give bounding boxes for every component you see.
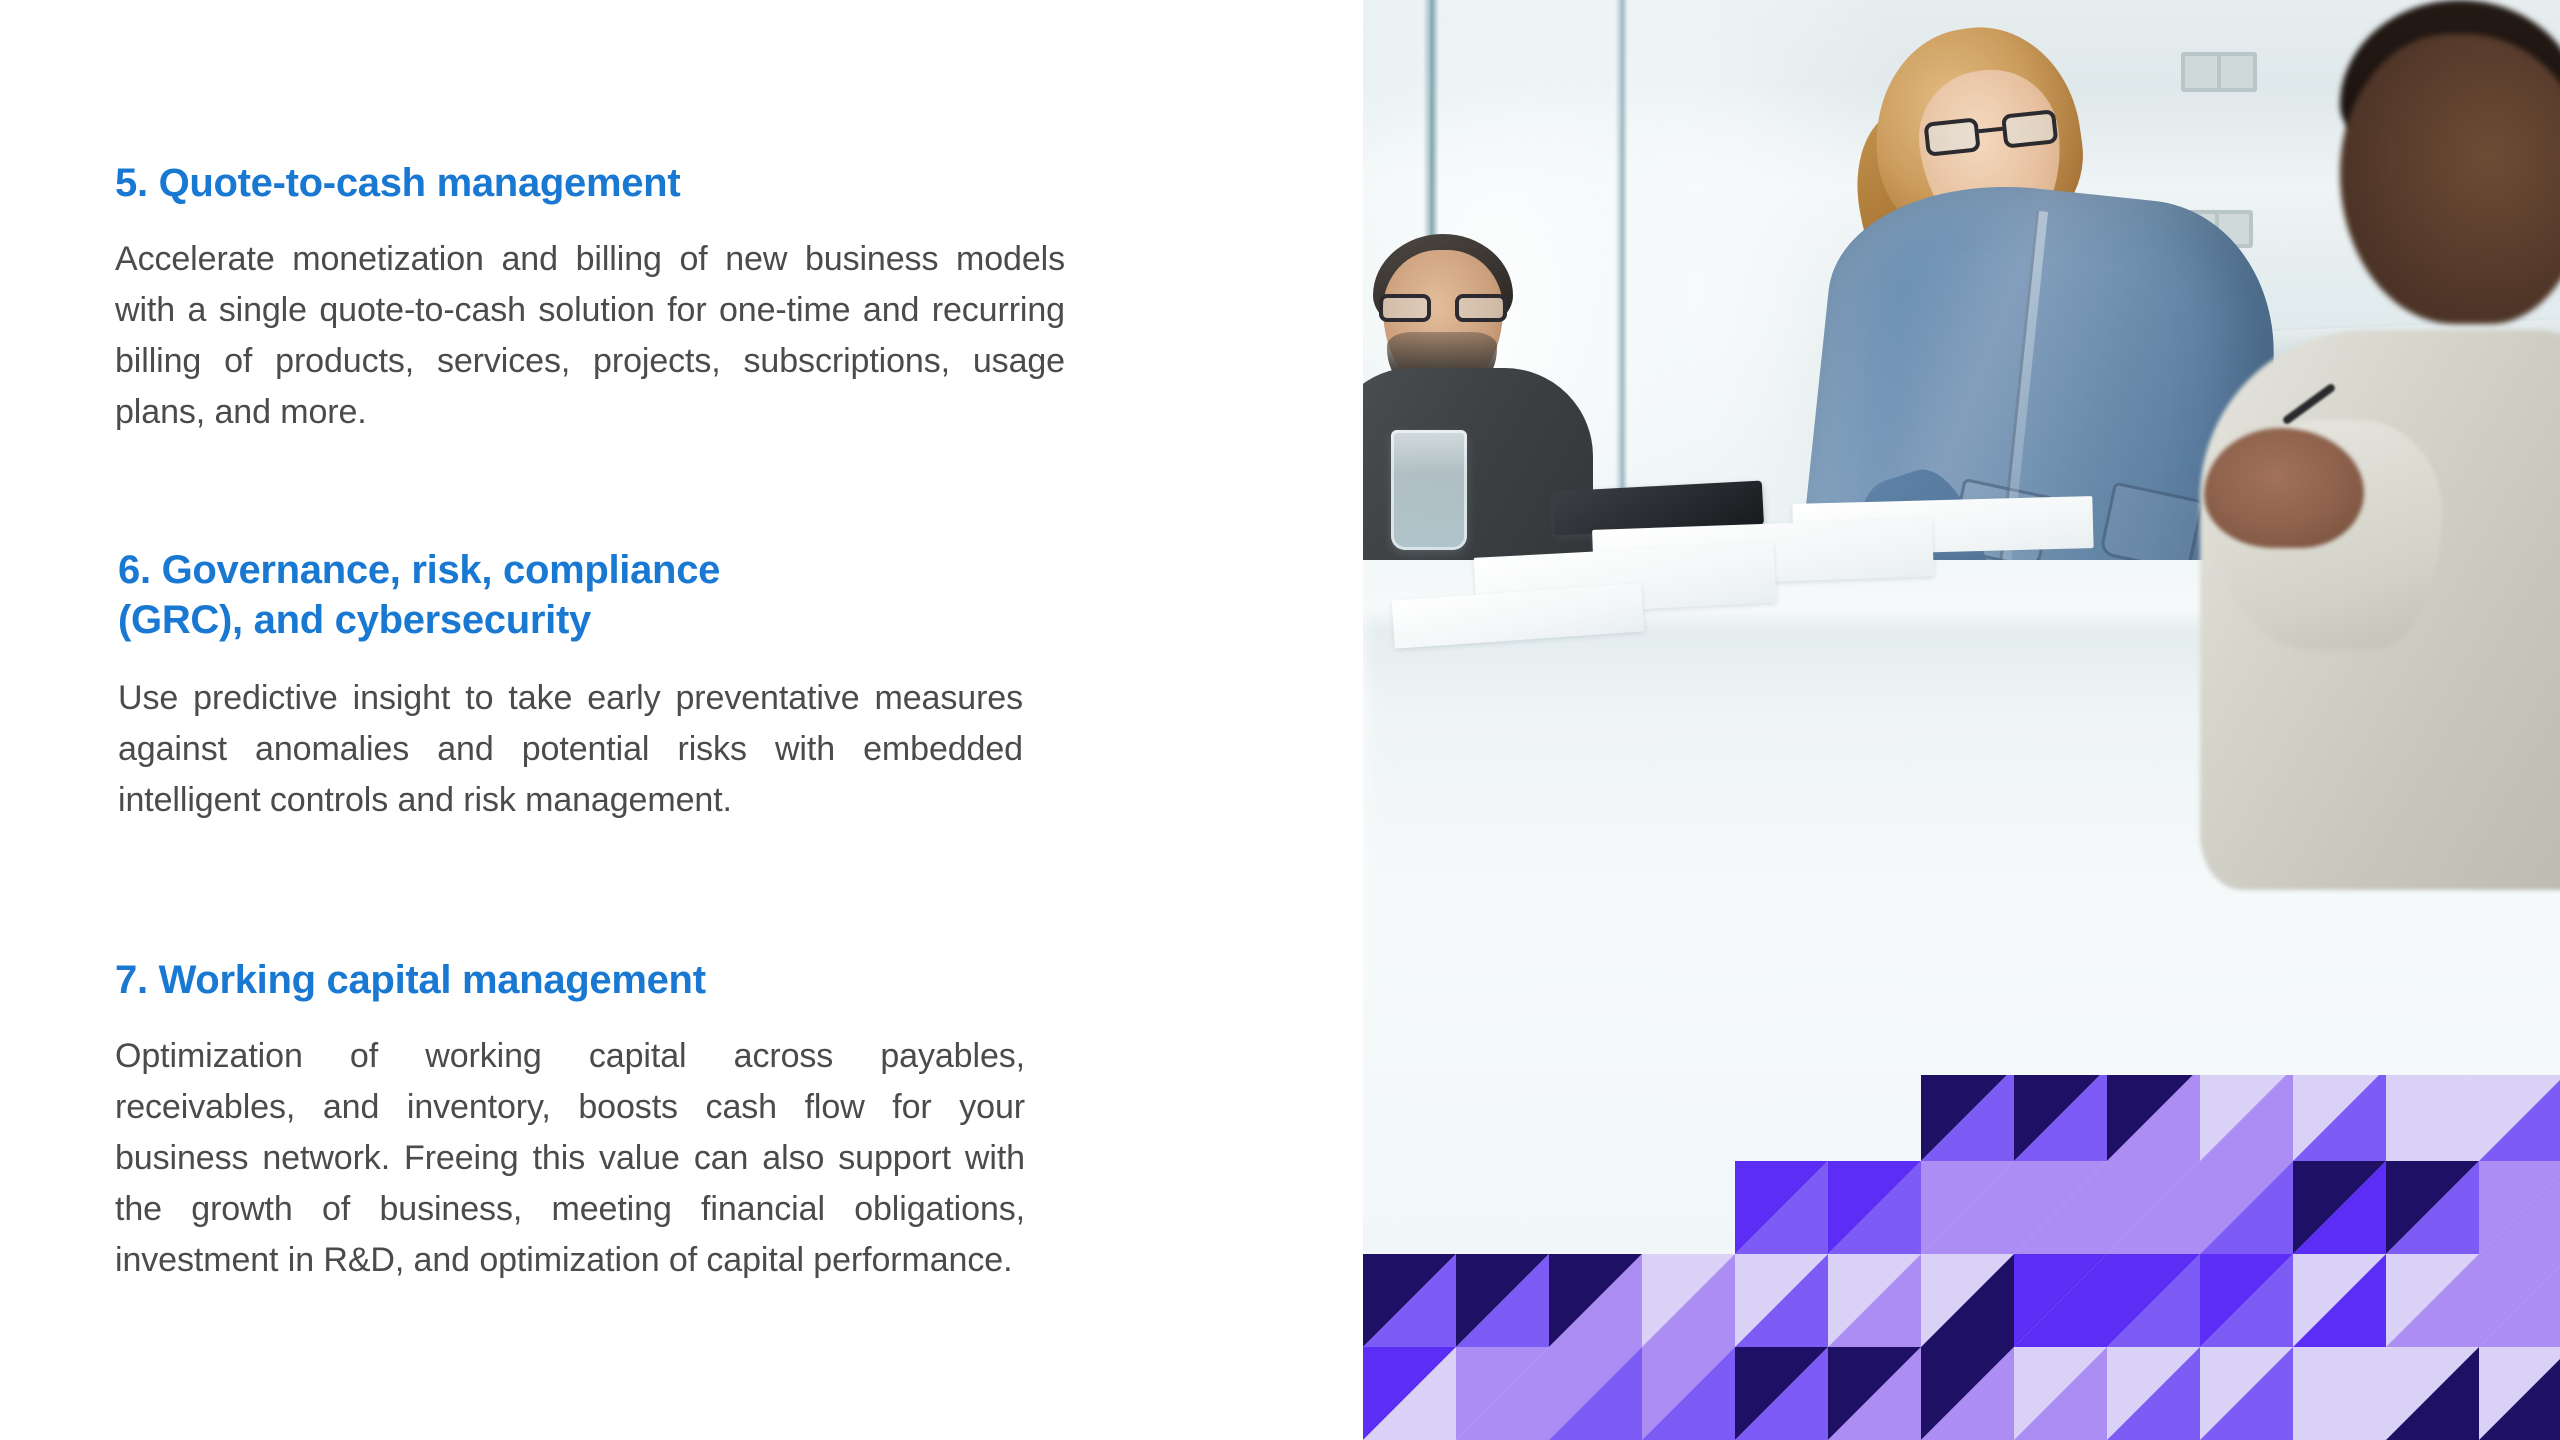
section-7-heading: 7. Working capital management	[115, 955, 1065, 1005]
head	[2340, 34, 2560, 324]
section-grc-cybersecurity: 6. Governance, risk, compliance (GRC), a…	[118, 545, 1068, 826]
geometric-pattern-overlay	[1363, 1075, 2560, 1440]
lens-right	[2001, 109, 2058, 148]
section-quote-to-cash: 5. Quote-to-cash management Accelerate m…	[115, 158, 1065, 438]
section-5-body: Accelerate monetization and billing of n…	[115, 234, 1065, 438]
lens-left	[1379, 294, 1431, 322]
pattern-svg	[1363, 1075, 2560, 1440]
seated-man-right	[2130, 0, 2560, 900]
section-5-heading: 5. Quote-to-cash management	[115, 158, 1065, 208]
glasses-bridge	[1978, 127, 2002, 133]
lens-left	[1923, 117, 1980, 156]
image-panel	[1363, 0, 2560, 1440]
section-6-body: Use predictive insight to take early pre…	[118, 673, 1023, 826]
slide-canvas: 5. Quote-to-cash management Accelerate m…	[0, 0, 2560, 1440]
glasses-icon	[1379, 294, 1507, 324]
text-panel: 5. Quote-to-cash management Accelerate m…	[0, 0, 1363, 1440]
water-glass	[1391, 430, 1467, 550]
section-working-capital: 7. Working capital management Optimizati…	[115, 955, 1065, 1286]
section-7-body: Optimization of working capital across p…	[115, 1031, 1025, 1286]
section-6-heading: 6. Governance, risk, compliance (GRC), a…	[118, 545, 1068, 645]
lens-right	[1455, 294, 1507, 322]
